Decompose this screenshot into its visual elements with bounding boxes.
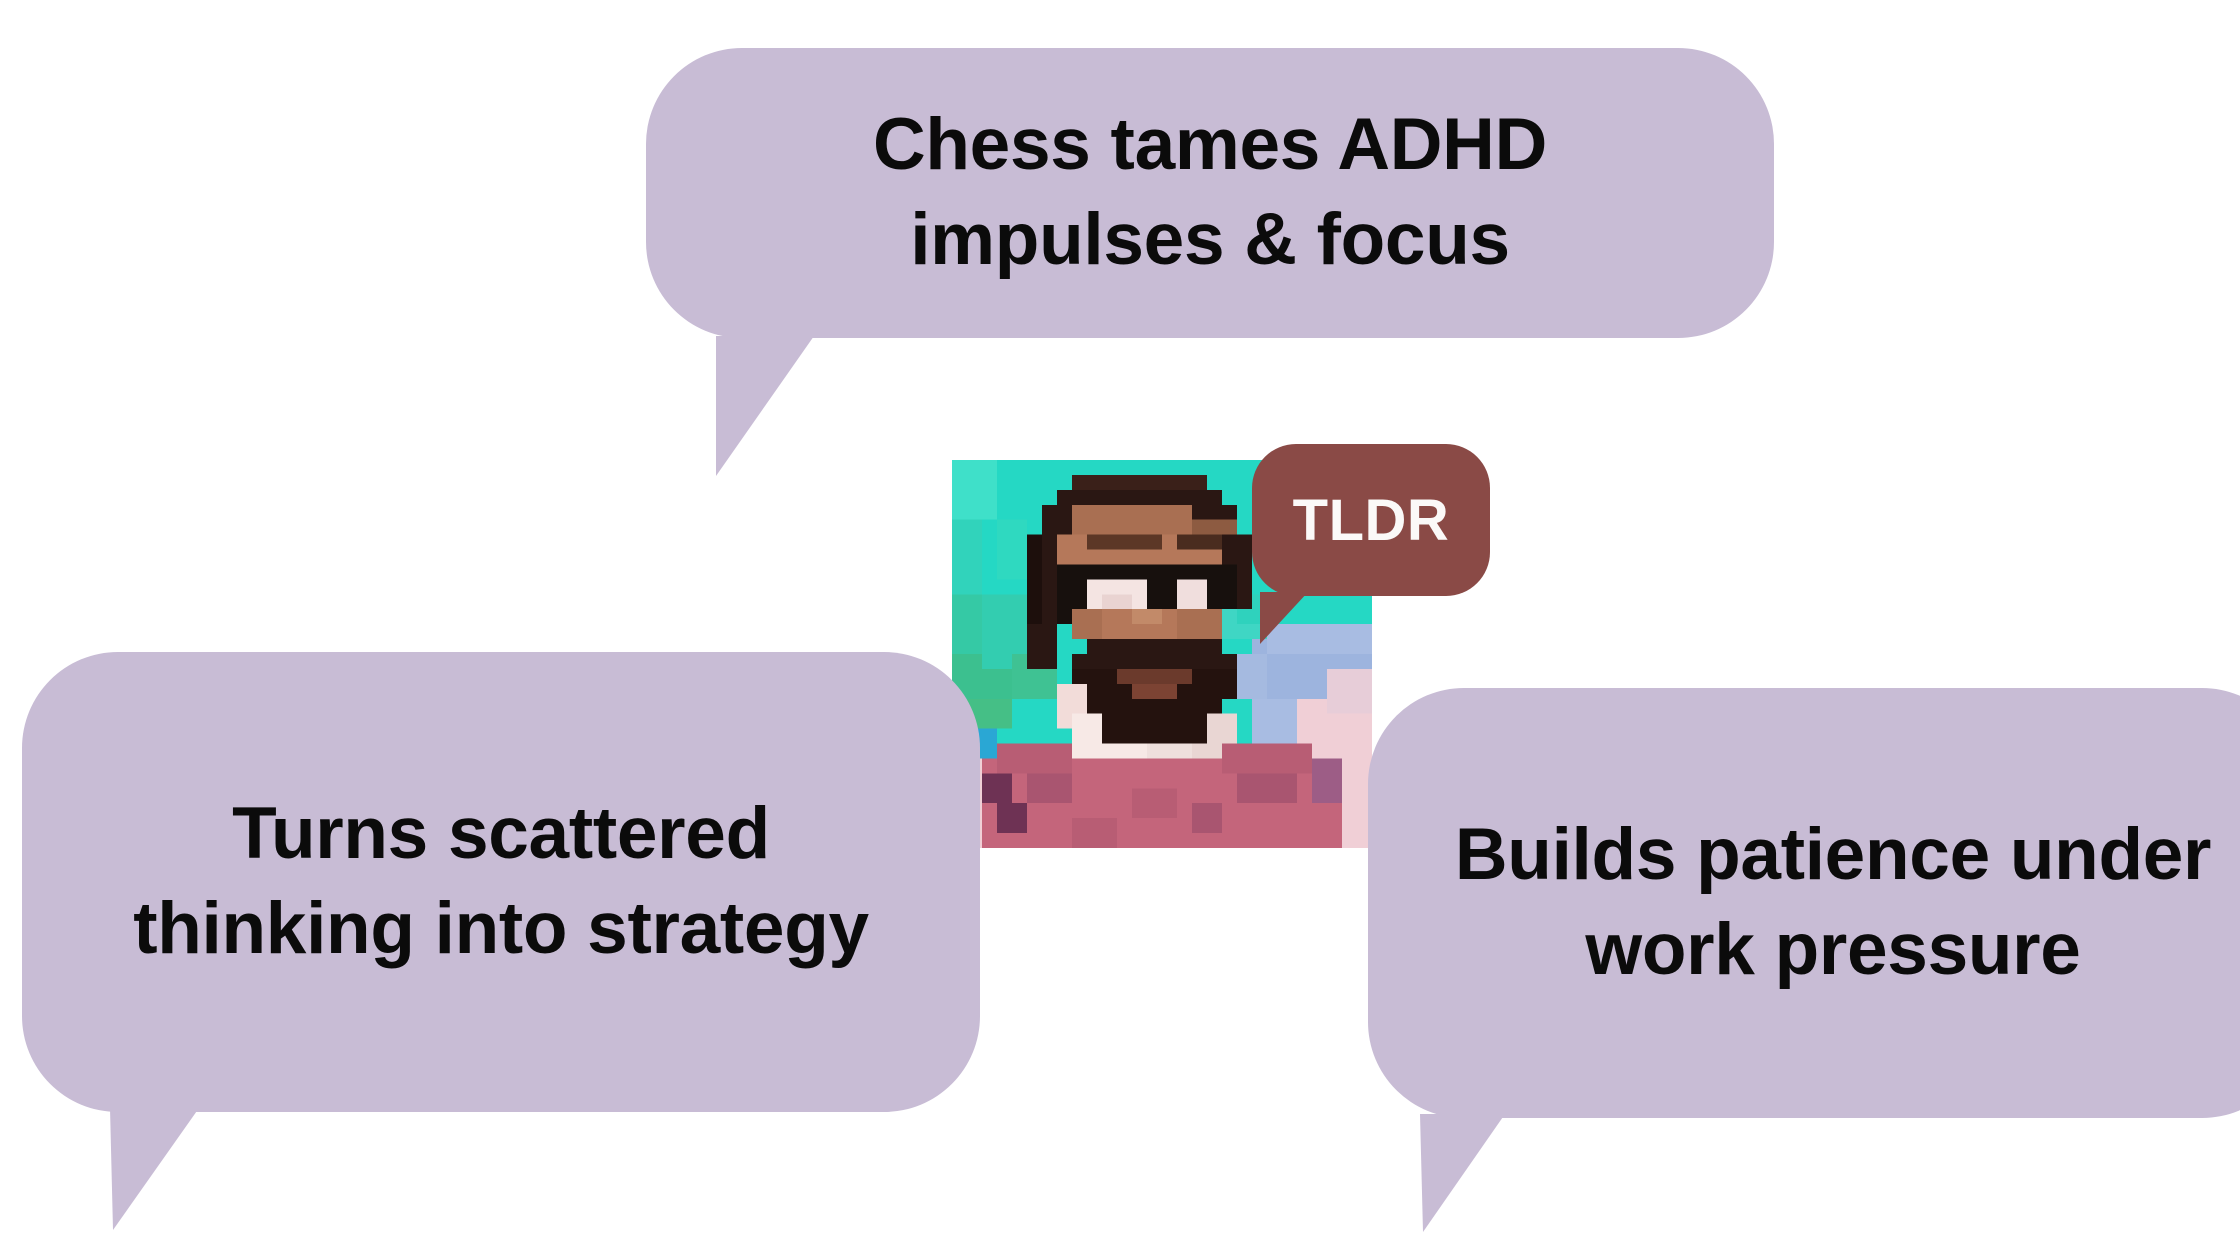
speech-bubble-top: Chess tames ADHD impulses & focus <box>646 48 1774 338</box>
speech-bubble-right: Builds patience under work pressure <box>1368 688 2240 1118</box>
speech-bubble-left-text: Turns scattered thinking into strategy <box>79 787 923 977</box>
speech-bubble-left-tail <box>110 1108 199 1233</box>
infographic-canvas: Chess tames ADHD impulses & focus Turns … <box>0 0 2240 1260</box>
speech-bubble-right-tail <box>1420 1114 1505 1235</box>
speech-bubble-left: Turns scattered thinking into strategy <box>22 652 980 1112</box>
tldr-badge-body: TLDR <box>1252 444 1490 596</box>
speech-bubble-top-tail <box>716 336 814 476</box>
tldr-badge: TLDR <box>1252 444 1490 624</box>
speech-bubble-top-text: Chess tames ADHD impulses & focus <box>819 98 1601 288</box>
tldr-badge-label: TLDR <box>1293 487 1450 554</box>
speech-bubble-right-text: Builds patience under work pressure <box>1401 808 2240 998</box>
tldr-badge-tail <box>1260 592 1308 644</box>
